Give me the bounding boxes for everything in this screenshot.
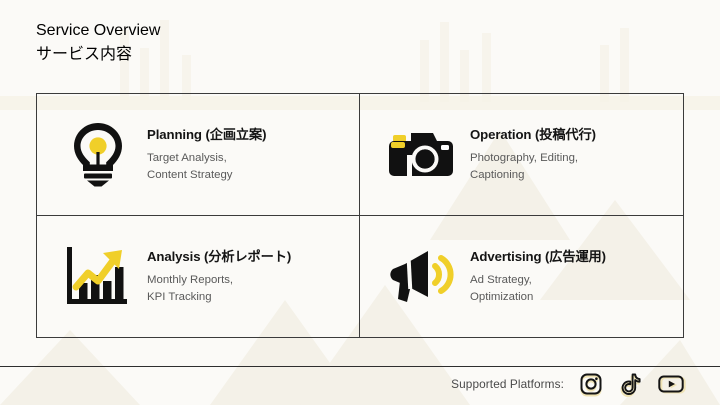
service-title: Planning (企画立案)	[147, 124, 266, 143]
megaphone-icon	[382, 247, 460, 305]
header: Service Overview サービス内容	[36, 22, 160, 64]
lightbulb-icon	[59, 121, 137, 187]
service-description: Ad Strategy, Optimization	[470, 272, 606, 307]
service-description: Monthly Reports, KPI Tracking	[147, 272, 291, 307]
footer: Supported Platforms:	[451, 373, 684, 395]
service-card-operation[interactable]: Operation (投稿代行) Photography, Editing, C…	[360, 94, 683, 216]
page-subtitle: サービス内容	[36, 40, 160, 64]
card-text: Advertising (広告運用) Ad Strategy, Optimiza…	[460, 246, 606, 307]
service-description: Target Analysis, Content Strategy	[147, 150, 266, 185]
instagram-icon[interactable]	[578, 373, 604, 395]
card-text: Analysis (分析レポート) Monthly Reports, KPI T…	[137, 246, 291, 307]
card-text: Planning (企画立案) Target Analysis, Content…	[137, 124, 266, 185]
service-grid: Planning (企画立案) Target Analysis, Content…	[36, 93, 684, 338]
service-card-analysis[interactable]: Analysis (分析レポート) Monthly Reports, KPI T…	[37, 216, 360, 338]
page-title: Service Overview	[36, 22, 160, 40]
camera-icon	[382, 126, 460, 182]
footer-divider	[0, 366, 720, 367]
service-card-advertising[interactable]: Advertising (広告運用) Ad Strategy, Optimiza…	[360, 216, 683, 338]
service-description: Photography, Editing, Captioning	[470, 150, 596, 185]
service-title: Analysis (分析レポート)	[147, 246, 291, 265]
service-title: Advertising (広告運用)	[470, 246, 606, 265]
card-text: Operation (投稿代行) Photography, Editing, C…	[460, 124, 596, 185]
bar-chart-growth-icon	[59, 245, 137, 307]
tiktok-icon[interactable]	[618, 373, 644, 395]
service-card-planning[interactable]: Planning (企画立案) Target Analysis, Content…	[37, 94, 360, 216]
service-title: Operation (投稿代行)	[470, 124, 596, 143]
supported-platforms-label: Supported Platforms:	[451, 377, 564, 391]
youtube-icon[interactable]	[658, 373, 684, 395]
